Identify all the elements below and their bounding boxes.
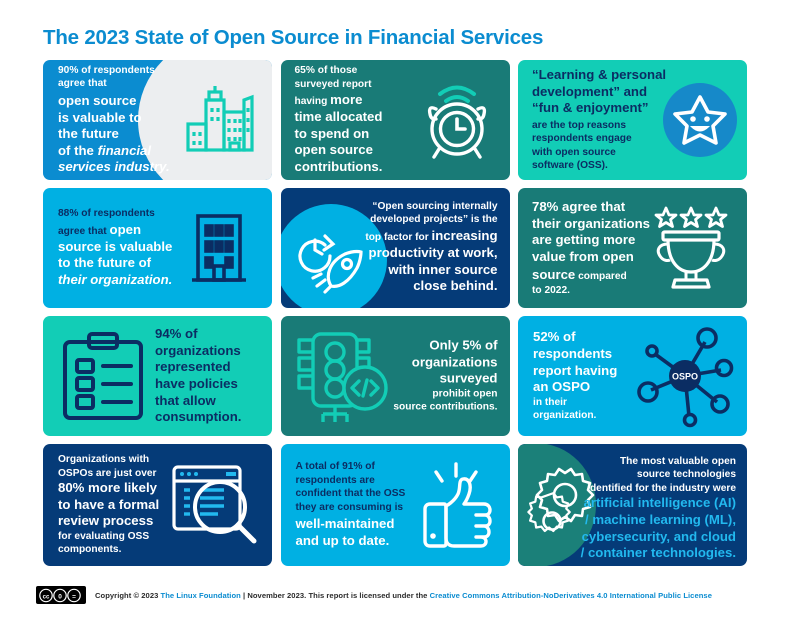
- card4-line2b: open: [110, 222, 142, 237]
- card1-line3: open source: [58, 93, 183, 110]
- card9-line6: organization.: [533, 409, 630, 422]
- card11-line3: confident that the OSS: [296, 487, 417, 500]
- card11-line4: they are consuming is: [296, 501, 417, 514]
- stat-card-more-value-from-open-source[interactable]: 78% agree that their organizations are g…: [518, 188, 747, 308]
- stat-card-policies-allow-consumption[interactable]: 94% of organizations represented have po…: [43, 316, 272, 436]
- card9-line3: report having: [533, 363, 630, 380]
- card10-line7: components.: [58, 543, 175, 556]
- card2-line4: time allocated: [295, 109, 416, 126]
- card7-line1: 94% of: [155, 326, 267, 343]
- card12-line3: identified for the industry were: [566, 482, 736, 495]
- card5-line1: “Open sourcing internally: [302, 200, 498, 213]
- card12-line5: / machine learning (ML),: [566, 512, 736, 529]
- stat-card-prohibit-contributions[interactable]: Only 5% of organizations surveyed prohib…: [281, 316, 510, 436]
- rocket-clock-icon: [295, 228, 367, 294]
- card2-line5: to spend on: [295, 126, 416, 143]
- card8-line5: source contributions.: [358, 401, 498, 414]
- card6-line1: 78% agree that: [532, 199, 658, 216]
- card12-line7: / container technologies.: [566, 545, 736, 562]
- stat-card-formal-review-process[interactable]: Organizations with OSPOs are just over 8…: [43, 444, 272, 566]
- card6-line3: are getting more: [532, 232, 658, 249]
- stat-card-open-source-valuable-industry[interactable]: 90% of respondents agree that open sourc…: [43, 60, 272, 180]
- footer-copyright: Copyright © 2023: [95, 591, 161, 600]
- stat-card-open-sourcing-internally[interactable]: “Open sourcing internally developed proj…: [281, 188, 510, 308]
- card12-line2: source technologies: [566, 468, 736, 481]
- footer: cc 0 = Copyright © 2023 The Linux Founda…: [36, 586, 712, 604]
- card11-line6: and up to date.: [296, 533, 417, 550]
- card6-text: 78% agree that their organizations are g…: [518, 199, 658, 297]
- card10-line6: for evaluating OSS: [58, 530, 175, 543]
- card5-line3b: increasing: [432, 228, 498, 243]
- card12-line1: The most valuable open: [566, 455, 736, 468]
- stat-card-valuable-their-organization[interactable]: 88% of respondents agree that open sourc…: [43, 188, 272, 308]
- card3-text: “Learning & personal development” and “f…: [518, 67, 670, 173]
- card8-line4: prohibit open: [358, 387, 498, 400]
- card10-line1: Organizations with: [58, 453, 175, 466]
- card3-line4: are the top reasons: [532, 119, 670, 132]
- card2-line2: surveyed report: [295, 78, 416, 91]
- browser-magnifier-icon: [168, 461, 260, 549]
- stat-card-more-time-allocated[interactable]: 65% of those surveyed report having more…: [281, 60, 510, 180]
- card2-line3b: more: [330, 92, 362, 107]
- card10-line5: review process: [58, 513, 175, 530]
- card10-text: Organizations with OSPOs are just over 8…: [43, 453, 175, 557]
- card11-line1: A total of 91% of: [296, 460, 417, 473]
- card7-line2: organizations: [155, 343, 267, 360]
- card8-line3: surveyed: [358, 371, 498, 388]
- card11-line5: well-maintained: [296, 516, 417, 533]
- card6-line5a: source: [532, 267, 575, 282]
- alarm-clock-icon: [418, 79, 496, 161]
- card3-line2: development” and: [532, 84, 670, 101]
- stat-card-learning-fun-reasons[interactable]: “Learning & personal development” and “f…: [518, 60, 747, 180]
- card3-line5: respondents engage: [532, 132, 670, 145]
- card2-line1: 65% of those: [295, 64, 416, 77]
- card7-line3: represented: [155, 359, 267, 376]
- ospo-icon-label: OSPO: [672, 372, 698, 382]
- stat-card-well-maintained-oss[interactable]: A total of 91% of respondents are confid…: [281, 444, 510, 566]
- ospo-network-icon: OSPO: [633, 324, 737, 428]
- card7-line4: have policies: [155, 376, 267, 393]
- card10-line2: OSPOs are just over: [58, 467, 175, 480]
- stat-card-most-valuable-technologies[interactable]: The most valuable open source technologi…: [518, 444, 747, 566]
- card3-line6: with open source: [532, 146, 670, 159]
- card4-line5: their organization.: [58, 272, 191, 289]
- card7-line6: consumption.: [155, 409, 267, 426]
- card8-text: Only 5% of organizations surveyed prohib…: [358, 338, 498, 415]
- card6-line4: value from open: [532, 249, 658, 266]
- card7-text: 94% of organizations represented have po…: [155, 326, 267, 426]
- footer-separator: | November 2023. This report is licensed…: [241, 591, 430, 600]
- card10-line4: to have a formal: [58, 497, 175, 514]
- card1-line1: 90% of respondents: [58, 64, 183, 77]
- card12-line4: artificial intelligence (AI): [566, 495, 736, 512]
- card6-line6: to 2022.: [532, 284, 658, 297]
- card5-line2: developed projects” is the: [302, 213, 498, 226]
- card4-line2a: agree that: [58, 226, 110, 237]
- card2-line3a: having: [295, 96, 331, 107]
- card11-line2: respondents are: [296, 474, 417, 487]
- office-building-icon: [190, 212, 248, 284]
- card8-line2: organizations: [358, 354, 498, 371]
- smiling-star-icon: [663, 83, 737, 157]
- cc-by-nd-badge[interactable]: cc 0 =: [36, 586, 86, 604]
- card5-line3a: top factor for: [365, 232, 431, 243]
- stats-card-grid: 90% of respondents agree that open sourc…: [43, 60, 757, 566]
- card2-line7: contributions.: [295, 159, 416, 176]
- card9-text: 52% of respondents report having an OSPO…: [518, 329, 630, 422]
- card9-line4: an OSPO: [533, 379, 630, 396]
- stat-card-ospo-in-organization[interactable]: 52% of respondents report having an OSPO…: [518, 316, 747, 436]
- card1-line7: services industry.: [58, 159, 183, 176]
- clipboard-checklist-icon: [59, 330, 147, 422]
- card3-line1: “Learning & personal: [532, 67, 670, 84]
- card10-line3: 80% more likely: [58, 480, 175, 497]
- card9-line1: 52% of: [533, 329, 630, 346]
- card12-line6: cybersecurity, and cloud: [566, 529, 736, 546]
- by-mark: 0: [58, 593, 62, 600]
- trophy-stars-icon: [651, 206, 731, 290]
- card1-line2: agree that: [58, 77, 183, 90]
- card9-line2: respondents: [533, 346, 630, 363]
- city-buildings-icon: [184, 86, 256, 154]
- card1-line5: the future: [58, 126, 183, 143]
- card3-line7: software (OSS).: [532, 159, 670, 172]
- card4-line4: to the future of: [58, 255, 191, 272]
- cc-mark: cc: [43, 594, 50, 600]
- card1-text: 90% of respondents agree that open sourc…: [43, 64, 183, 176]
- card6-line2: their organizations: [532, 216, 658, 233]
- infographic-page: The 2023 State of Open Source in Financi…: [0, 0, 800, 618]
- card8-line1: Only 5% of: [358, 338, 498, 355]
- card4-line3: source is valuable: [58, 239, 191, 256]
- footer-text: Copyright © 2023 The Linux Foundation | …: [95, 591, 712, 600]
- card11-text: A total of 91% of respondents are confid…: [281, 460, 417, 549]
- card2-text: 65% of those surveyed report having more…: [281, 64, 416, 175]
- page-title: The 2023 State of Open Source in Financi…: [43, 26, 543, 50]
- footer-org-link[interactable]: The Linux Foundation: [161, 591, 241, 600]
- card1-line6a: of the: [58, 143, 98, 158]
- card12-text: The most valuable open source technologi…: [566, 455, 736, 562]
- card4-line1: 88% of respondents: [58, 207, 191, 220]
- card3-line3: “fun & enjoyment”: [532, 100, 670, 117]
- card4-text: 88% of respondents agree that open sourc…: [43, 207, 191, 288]
- card1-line4: is valuable to: [58, 110, 183, 127]
- card9-line5: in their: [533, 396, 630, 409]
- card2-line6: open source: [295, 142, 416, 159]
- card6-line5b: compared: [575, 271, 627, 282]
- nd-mark: =: [72, 593, 76, 600]
- thumbs-up-icon: [414, 462, 496, 548]
- card1-line6b: financial: [98, 143, 152, 158]
- footer-license-link[interactable]: Creative Commons Attribution-NoDerivativ…: [430, 591, 712, 600]
- card7-line5: that allow: [155, 393, 267, 410]
